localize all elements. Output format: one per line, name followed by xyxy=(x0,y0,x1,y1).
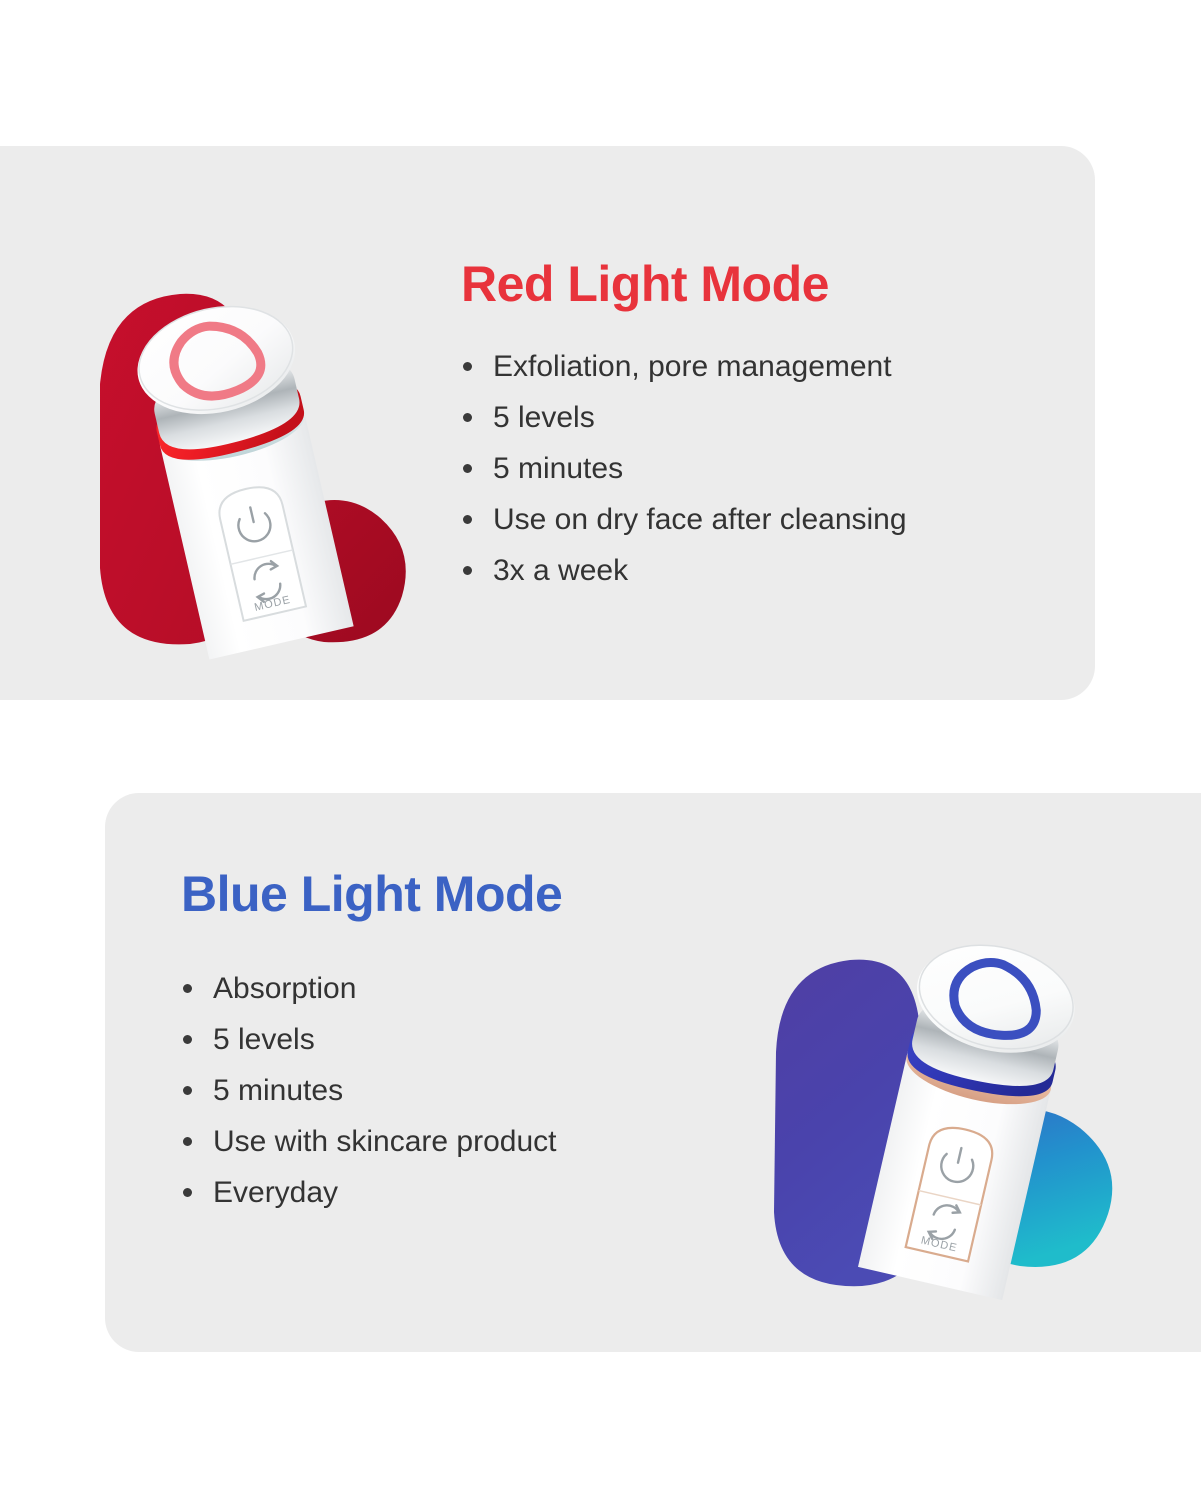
bullet-icon xyxy=(183,1137,192,1146)
bullet-icon xyxy=(463,566,472,575)
list-item: Use with skincare product xyxy=(181,1116,801,1167)
red-mode-text-block: Red Light Mode Exfoliation, pore managem… xyxy=(461,258,1061,596)
bullet-icon xyxy=(463,515,472,524)
list-item: 5 minutes xyxy=(461,443,1061,494)
feature-text: Use on dry face after cleansing xyxy=(493,503,907,536)
list-item: 3x a week xyxy=(461,545,1061,596)
red-device-image: MODE xyxy=(72,216,432,646)
red-mode-title: Red Light Mode xyxy=(461,258,1061,311)
feature-text: Absorption xyxy=(213,972,356,1005)
list-item: 5 levels xyxy=(461,392,1061,443)
list-item: 5 minutes xyxy=(181,1065,801,1116)
bullet-icon xyxy=(183,1086,192,1095)
feature-text: Exfoliation, pore management xyxy=(493,350,892,383)
bullet-icon xyxy=(463,413,472,422)
feature-text: 3x a week xyxy=(493,554,628,587)
red-mode-feature-list: Exfoliation, pore management 5 levels 5 … xyxy=(461,341,1061,596)
blue-device-image: MODE xyxy=(758,856,1148,1286)
infographic-page: MODE Red Light Mode Exfoliation, pore ma… xyxy=(0,0,1201,1500)
feature-text: Use with skincare product xyxy=(213,1125,556,1158)
blue-mode-text-block: Blue Light Mode Absorption 5 levels 5 mi… xyxy=(181,868,801,1218)
list-item: Everyday xyxy=(181,1167,801,1218)
bullet-icon xyxy=(463,464,472,473)
bullet-icon xyxy=(183,1035,192,1044)
feature-text: 5 minutes xyxy=(213,1074,343,1107)
list-item: 5 levels xyxy=(181,1014,801,1065)
blue-mode-title: Blue Light Mode xyxy=(181,868,801,921)
feature-text: Everyday xyxy=(213,1176,338,1209)
blue-mode-feature-list: Absorption 5 levels 5 minutes Use with s… xyxy=(181,963,801,1218)
feature-text: 5 minutes xyxy=(493,452,623,485)
feature-text: 5 levels xyxy=(493,401,595,434)
list-item: Exfoliation, pore management xyxy=(461,341,1061,392)
bullet-icon xyxy=(183,984,192,993)
bullet-icon xyxy=(183,1188,192,1197)
list-item: Use on dry face after cleansing xyxy=(461,494,1061,545)
list-item: Absorption xyxy=(181,963,801,1014)
bullet-icon xyxy=(463,362,472,371)
feature-text: 5 levels xyxy=(213,1023,315,1056)
